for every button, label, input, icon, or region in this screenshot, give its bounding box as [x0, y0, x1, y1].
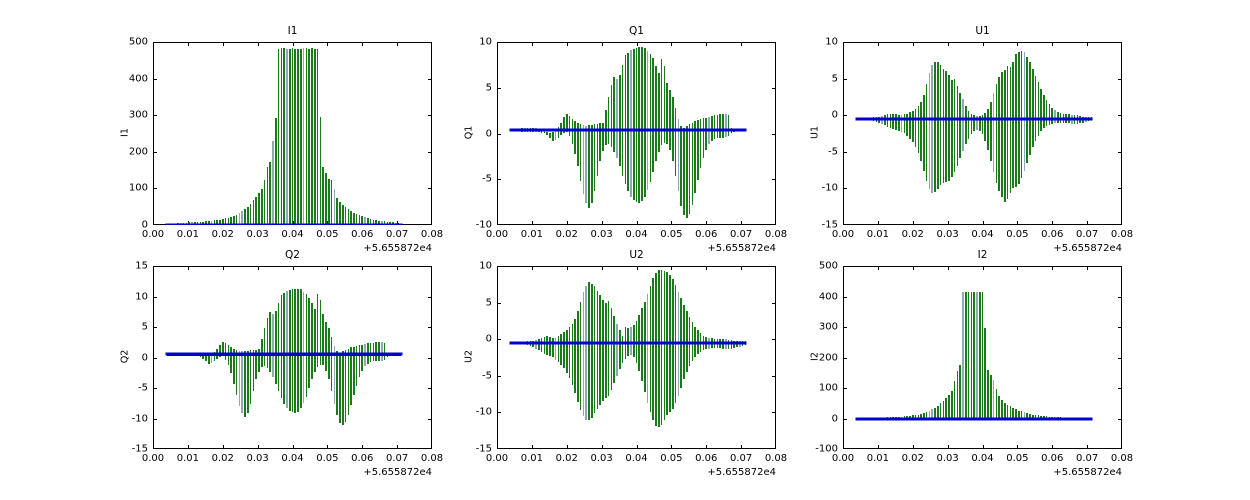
- ytick-mark-right: [1118, 388, 1122, 389]
- ytick-mark: [497, 303, 501, 304]
- xtick-mark: [878, 221, 879, 225]
- xtick-label: 0.05: [316, 449, 338, 464]
- axes-frame: [497, 42, 776, 225]
- xtick-mark: [397, 445, 398, 449]
- xtick-mark-top: [602, 42, 603, 46]
- xtick-mark: [741, 221, 742, 225]
- ytick-label: 300: [129, 110, 153, 121]
- ytick-label: 400: [129, 73, 153, 84]
- subplot-title: I1: [153, 25, 432, 37]
- axes-frame: [153, 42, 432, 225]
- ytick-mark: [843, 327, 847, 328]
- y-axis-label: U2: [464, 336, 475, 376]
- subplot-q1: Q1-10-505100.000.010.020.030.040.050.060…: [497, 42, 776, 225]
- xtick-mark-top: [983, 42, 984, 46]
- ytick-mark-right: [1118, 188, 1122, 189]
- xtick-label: 0.01: [521, 449, 543, 464]
- xtick-label: 0.06: [351, 449, 373, 464]
- ytick-label: 0: [832, 110, 843, 121]
- ytick-mark: [153, 152, 157, 153]
- xtick-mark: [637, 221, 638, 225]
- ytick-mark: [497, 339, 501, 340]
- xtick-mark-top: [878, 42, 879, 46]
- xtick-mark: [327, 445, 328, 449]
- ytick-mark: [153, 297, 157, 298]
- xtick-label: 0.05: [316, 225, 338, 240]
- xtick-mark-top: [1087, 266, 1088, 270]
- matplotlib-figure: I101002003004005000.000.010.020.030.040.…: [0, 0, 1250, 500]
- ytick-label: -5: [138, 383, 153, 394]
- axes-frame: [843, 42, 1122, 225]
- xtick-label: 0.05: [660, 225, 682, 240]
- xtick-mark: [223, 445, 224, 449]
- xtick-label: 0.02: [212, 449, 234, 464]
- ytick-mark-right: [772, 134, 776, 135]
- ytick-label: -10: [822, 183, 843, 194]
- xtick-mark-top: [532, 266, 533, 270]
- subplot-title: Q2: [153, 249, 432, 261]
- ytick-mark-right: [772, 179, 776, 180]
- ytick-mark-right: [1118, 115, 1122, 116]
- xtick-label: 0.00: [142, 225, 164, 240]
- xtick-label: 0.03: [936, 225, 958, 240]
- xtick-mark-top: [637, 266, 638, 270]
- ytick-label: 100: [129, 183, 153, 194]
- xtick-mark: [948, 221, 949, 225]
- xtick-mark-top: [878, 266, 879, 270]
- ytick-label: 0: [486, 128, 497, 139]
- subplot-title: I2: [843, 249, 1122, 261]
- y-axis-label: I1: [120, 112, 131, 152]
- ytick-mark-right: [428, 188, 432, 189]
- xtick-label: 0.06: [1041, 449, 1063, 464]
- ytick-label: 200: [819, 352, 843, 363]
- xtick-mark: [706, 221, 707, 225]
- y-axis-label: Q1: [464, 112, 475, 152]
- ytick-mark: [843, 297, 847, 298]
- xtick-label: 0.08: [765, 449, 787, 464]
- xtick-mark: [602, 445, 603, 449]
- ytick-mark-right: [1118, 297, 1122, 298]
- xtick-mark: [258, 221, 259, 225]
- ytick-label: 5: [142, 322, 153, 333]
- xtick-mark-top: [223, 42, 224, 46]
- xtick-label: 0.08: [421, 449, 443, 464]
- xtick-label: 0.06: [1041, 225, 1063, 240]
- xtick-label: 0.04: [625, 449, 647, 464]
- subplot-title: U2: [497, 249, 776, 261]
- xtick-mark: [878, 445, 879, 449]
- xtick-mark-top: [741, 266, 742, 270]
- xtick-label: 0.01: [177, 449, 199, 464]
- ytick-mark: [497, 88, 501, 89]
- x-axis-offset-text: +5.655872e4: [707, 467, 776, 478]
- ytick-label: -5: [828, 146, 843, 157]
- ytick-mark-right: [772, 339, 776, 340]
- xtick-mark-top: [948, 42, 949, 46]
- xtick-mark-top: [397, 42, 398, 46]
- ytick-mark-right: [1118, 327, 1122, 328]
- xtick-mark: [188, 445, 189, 449]
- xtick-mark-top: [223, 266, 224, 270]
- ytick-mark: [153, 79, 157, 80]
- ytick-mark: [497, 134, 501, 135]
- ytick-mark: [843, 79, 847, 80]
- xtick-mark-top: [188, 266, 189, 270]
- xtick-label: 0.03: [936, 449, 958, 464]
- subplot-title: U1: [843, 25, 1122, 37]
- xtick-label: 0.00: [832, 225, 854, 240]
- xtick-mark-top: [948, 266, 949, 270]
- xtick-mark-top: [362, 266, 363, 270]
- subplot-u1: U1-15-10-505100.000.010.020.030.040.050.…: [843, 42, 1122, 225]
- xtick-label: 0.00: [832, 449, 854, 464]
- ytick-label: 15: [135, 261, 153, 272]
- ytick-mark: [153, 358, 157, 359]
- xtick-label: 0.03: [590, 225, 612, 240]
- subplot-u2: U2-15-10-505100.000.010.020.030.040.050.…: [497, 266, 776, 449]
- xtick-mark-top: [706, 42, 707, 46]
- xtick-mark: [188, 221, 189, 225]
- xtick-mark: [532, 221, 533, 225]
- ytick-label: 500: [129, 37, 153, 48]
- ytick-mark-right: [428, 297, 432, 298]
- ytick-mark: [843, 419, 847, 420]
- axes-frame: [153, 266, 432, 449]
- xtick-mark-top: [293, 266, 294, 270]
- axes-frame: [497, 266, 776, 449]
- xtick-mark: [362, 221, 363, 225]
- x-axis-offset-text: +5.655872e4: [363, 467, 432, 478]
- xtick-label: 0.00: [486, 225, 508, 240]
- ytick-label: 10: [135, 291, 153, 302]
- xtick-label: 0.01: [177, 225, 199, 240]
- xtick-label: 0.07: [386, 225, 408, 240]
- xtick-mark-top: [983, 266, 984, 270]
- ytick-mark-right: [772, 412, 776, 413]
- ytick-label: 5: [486, 297, 497, 308]
- xtick-label: 0.03: [590, 449, 612, 464]
- ytick-label: -10: [132, 413, 153, 424]
- xtick-label: 0.06: [351, 225, 373, 240]
- xtick-label: 0.04: [971, 225, 993, 240]
- xtick-mark-top: [258, 266, 259, 270]
- xtick-label: 0.05: [1006, 449, 1028, 464]
- ytick-label: 10: [479, 261, 497, 272]
- xtick-mark: [948, 445, 949, 449]
- ytick-label: 0: [832, 413, 843, 424]
- xtick-label: 0.06: [695, 449, 717, 464]
- ytick-mark-right: [428, 419, 432, 420]
- xtick-label: 0.02: [902, 449, 924, 464]
- xtick-mark-top: [637, 42, 638, 46]
- xtick-mark-top: [327, 42, 328, 46]
- xtick-mark-top: [1017, 42, 1018, 46]
- ytick-label: -10: [476, 407, 497, 418]
- xtick-mark: [397, 221, 398, 225]
- xtick-mark-top: [671, 42, 672, 46]
- xtick-mark: [567, 221, 568, 225]
- xtick-mark-top: [913, 266, 914, 270]
- xtick-label: 0.08: [421, 225, 443, 240]
- xtick-label: 0.07: [386, 449, 408, 464]
- ytick-label: 5: [486, 82, 497, 93]
- xtick-mark-top: [397, 266, 398, 270]
- xtick-mark-top: [1052, 42, 1053, 46]
- y-axis-label: U1: [810, 112, 821, 152]
- ytick-mark: [153, 115, 157, 116]
- xtick-label: 0.00: [142, 449, 164, 464]
- xtick-mark-top: [567, 42, 568, 46]
- xtick-label: 0.00: [486, 449, 508, 464]
- ytick-mark: [843, 188, 847, 189]
- ytick-mark-right: [428, 79, 432, 80]
- ytick-mark-right: [772, 88, 776, 89]
- ytick-mark: [843, 358, 847, 359]
- ytick-mark: [497, 376, 501, 377]
- subplot-i1: I101002003004005000.000.010.020.030.040.…: [153, 42, 432, 225]
- xtick-mark: [913, 221, 914, 225]
- xtick-mark-top: [567, 266, 568, 270]
- subplot-i2: I2-10001002003004005000.000.010.020.030.…: [843, 266, 1122, 449]
- ytick-label: 200: [129, 146, 153, 157]
- xtick-label: 0.04: [625, 225, 647, 240]
- xtick-label: 0.07: [1076, 225, 1098, 240]
- ytick-mark: [153, 419, 157, 420]
- xtick-label: 0.02: [902, 225, 924, 240]
- xtick-mark: [258, 445, 259, 449]
- ytick-label: 10: [479, 37, 497, 48]
- xtick-mark: [1052, 221, 1053, 225]
- xtick-mark-top: [741, 42, 742, 46]
- ytick-mark-right: [772, 376, 776, 377]
- xtick-mark: [293, 445, 294, 449]
- xtick-label: 0.04: [281, 225, 303, 240]
- ytick-label: 500: [819, 261, 843, 272]
- ytick-mark: [497, 179, 501, 180]
- xtick-mark: [223, 221, 224, 225]
- xtick-mark: [532, 445, 533, 449]
- xtick-label: 0.02: [212, 225, 234, 240]
- ytick-label: 400: [819, 291, 843, 302]
- ytick-mark-right: [772, 303, 776, 304]
- ytick-mark: [497, 412, 501, 413]
- xtick-mark-top: [1052, 266, 1053, 270]
- ytick-mark: [843, 115, 847, 116]
- ytick-mark: [843, 152, 847, 153]
- xtick-label: 0.08: [1111, 449, 1133, 464]
- ytick-mark: [153, 388, 157, 389]
- ytick-label: -5: [482, 174, 497, 185]
- xtick-mark: [671, 221, 672, 225]
- xtick-mark: [1017, 445, 1018, 449]
- xtick-mark: [602, 221, 603, 225]
- ytick-mark: [153, 327, 157, 328]
- xtick-mark: [293, 221, 294, 225]
- xtick-mark: [1087, 221, 1088, 225]
- xtick-mark-top: [1017, 266, 1018, 270]
- xtick-mark: [327, 221, 328, 225]
- xtick-mark: [637, 445, 638, 449]
- ytick-mark: [153, 188, 157, 189]
- xtick-mark: [1017, 221, 1018, 225]
- xtick-label: 0.05: [1006, 225, 1028, 240]
- subplot-title: Q1: [497, 25, 776, 37]
- ytick-label: 5: [832, 73, 843, 84]
- ytick-label: 10: [825, 37, 843, 48]
- ytick-label: 300: [819, 322, 843, 333]
- ytick-mark-right: [428, 388, 432, 389]
- axes-frame: [843, 266, 1122, 449]
- xtick-mark-top: [532, 42, 533, 46]
- ytick-label: -5: [482, 370, 497, 381]
- xtick-mark-top: [293, 42, 294, 46]
- xtick-label: 0.06: [695, 225, 717, 240]
- ytick-mark-right: [428, 327, 432, 328]
- xtick-mark-top: [188, 42, 189, 46]
- xtick-label: 0.08: [1111, 225, 1133, 240]
- xtick-mark: [706, 445, 707, 449]
- ytick-mark-right: [428, 358, 432, 359]
- ytick-label: 0: [142, 352, 153, 363]
- xtick-label: 0.05: [660, 449, 682, 464]
- ytick-mark-right: [428, 115, 432, 116]
- y-axis-label: I2: [810, 336, 821, 376]
- xtick-label: 0.03: [246, 225, 268, 240]
- xtick-mark: [567, 445, 568, 449]
- y-axis-label: Q2: [120, 336, 131, 376]
- xtick-mark-top: [258, 42, 259, 46]
- xtick-label: 0.08: [765, 225, 787, 240]
- xtick-label: 0.04: [281, 449, 303, 464]
- ytick-label: 100: [819, 383, 843, 394]
- xtick-mark-top: [327, 266, 328, 270]
- x-axis-offset-text: +5.655872e4: [1053, 467, 1122, 478]
- xtick-mark-top: [362, 42, 363, 46]
- xtick-label: 0.07: [730, 449, 752, 464]
- xtick-label: 0.02: [556, 449, 578, 464]
- xtick-label: 0.01: [867, 449, 889, 464]
- subplot-q2: Q2-15-10-50510150.000.010.020.030.040.05…: [153, 266, 432, 449]
- xtick-label: 0.07: [730, 225, 752, 240]
- ytick-mark-right: [428, 152, 432, 153]
- xtick-mark-top: [602, 266, 603, 270]
- xtick-mark: [741, 445, 742, 449]
- xtick-label: 0.07: [1076, 449, 1098, 464]
- ytick-label: 0: [486, 334, 497, 345]
- xtick-mark: [362, 445, 363, 449]
- xtick-label: 0.02: [556, 225, 578, 240]
- ytick-mark-right: [1118, 358, 1122, 359]
- xtick-mark-top: [671, 266, 672, 270]
- xtick-label: 0.03: [246, 449, 268, 464]
- xtick-mark-top: [913, 42, 914, 46]
- xtick-mark: [983, 445, 984, 449]
- ytick-mark-right: [1118, 79, 1122, 80]
- xtick-label: 0.01: [867, 225, 889, 240]
- xtick-label: 0.04: [971, 449, 993, 464]
- xtick-mark: [671, 445, 672, 449]
- xtick-mark-top: [1087, 42, 1088, 46]
- xtick-mark-top: [706, 266, 707, 270]
- xtick-mark: [913, 445, 914, 449]
- ytick-mark: [843, 388, 847, 389]
- xtick-label: 0.01: [521, 225, 543, 240]
- xtick-mark: [1052, 445, 1053, 449]
- ytick-mark-right: [1118, 152, 1122, 153]
- xtick-mark: [983, 221, 984, 225]
- ytick-mark-right: [1118, 419, 1122, 420]
- xtick-mark: [1087, 445, 1088, 449]
